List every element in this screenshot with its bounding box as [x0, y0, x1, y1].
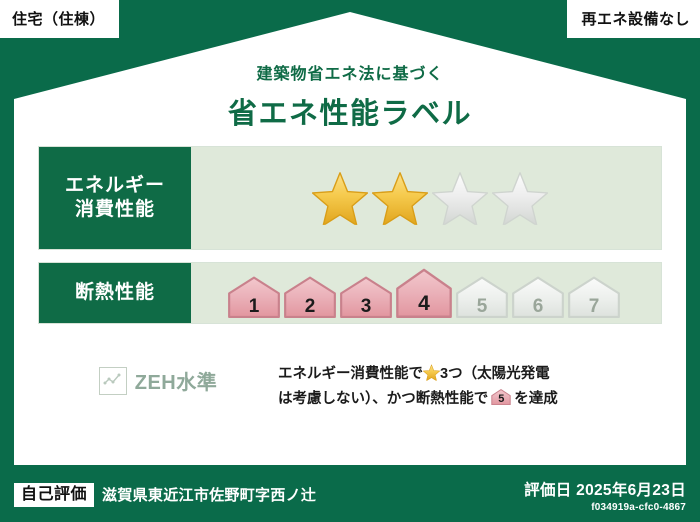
- row-insulation-performance: 断熱性能 1234567: [38, 262, 662, 324]
- description-line1-text-after: 3つ（太陽光発電: [440, 366, 550, 382]
- document-id: f034919a-cfc0-4867: [524, 502, 686, 513]
- page-title: 省エネ性能ラベル: [0, 90, 700, 132]
- star-filled-icon: [312, 170, 368, 226]
- zeh-checkbox-icon: [99, 367, 127, 395]
- achievement-description: エネルギー消費性能で3つ（太陽光発電 は考慮しない）、かつ断熱性能で5を達成: [278, 360, 662, 411]
- row-energy-label-line1: エネルギー: [65, 174, 165, 198]
- zeh-and-description: ZEH水準 エネルギー消費性能で3つ（太陽光発電 は考慮しない）、かつ断熱性能で…: [38, 360, 662, 411]
- insulation-level-number: 5: [455, 297, 509, 316]
- description-line2-text-after: を達成: [514, 391, 558, 407]
- insulation-level-1: 1: [227, 276, 281, 318]
- row-insulation-label: 断熱性能: [39, 263, 191, 323]
- badge-renewable-energy: 再エネ設備なし: [567, 0, 700, 38]
- star-rating: [312, 170, 548, 226]
- inline-star-icon: [423, 364, 440, 381]
- insulation-level-number: 6: [511, 297, 565, 316]
- energy-performance-label: 住宅（住棟） 再エネ設備なし 建築物省エネ法に基づく 省エネ性能ラベル エネルギ…: [0, 0, 700, 522]
- property-address: 滋賀県東近江市佐野町字西ノ辻: [102, 484, 316, 505]
- title-block: 建築物省エネ法に基づく 省エネ性能ラベル: [0, 60, 700, 132]
- footer-left: 自己評価 滋賀県東近江市佐野町字西ノ辻: [14, 483, 524, 507]
- insulation-level-number: 4: [395, 293, 453, 314]
- footer-bar: 自己評価 滋賀県東近江市佐野町字西ノ辻 評価日 2025年6月23日 f0349…: [0, 468, 700, 522]
- star-empty-icon: [492, 170, 548, 226]
- star-empty-icon: [432, 170, 488, 226]
- description-line1-text-before: エネルギー消費性能で: [278, 366, 423, 382]
- row-energy-label: エネルギー 消費性能: [39, 147, 191, 249]
- insulation-level-number: 2: [283, 297, 337, 316]
- footer-right: 評価日 2025年6月23日 f034919a-cfc0-4867: [524, 478, 686, 513]
- star-filled-icon: [372, 170, 428, 226]
- description-line-1: エネルギー消費性能で3つ（太陽光発電: [278, 362, 662, 387]
- evaluation-date-value: 2025年6月23日: [576, 482, 686, 499]
- insulation-level-number: 3: [339, 297, 393, 316]
- insulation-level-6: 6: [511, 276, 565, 318]
- evaluation-date-label: 評価日: [524, 482, 571, 499]
- inline-insulation-chip: 5: [490, 389, 512, 405]
- insulation-level-4: 4: [395, 268, 453, 318]
- insulation-level-scale: 1234567: [227, 268, 621, 318]
- inline-chip-value: 5: [490, 394, 512, 405]
- row-energy-label-line2: 消費性能: [75, 198, 155, 222]
- zeh-standard-block: ZEH水準: [38, 360, 278, 395]
- description-line2-text-before: は考慮しない）、かつ断熱性能で: [278, 391, 488, 407]
- description-line-2: は考慮しない）、かつ断熱性能で5を達成: [278, 387, 662, 412]
- zeh-standard-label: ZEH水準: [135, 366, 218, 395]
- row-insulation-label-line1: 断熱性能: [75, 281, 155, 305]
- insulation-level-3: 3: [339, 276, 393, 318]
- row-insulation-body: 1234567: [191, 263, 661, 323]
- title-subtitle: 建築物省エネ法に基づく: [0, 60, 700, 84]
- self-evaluation-badge: 自己評価: [14, 483, 94, 507]
- evaluation-date: 評価日 2025年6月23日: [524, 478, 686, 500]
- row-energy-performance: エネルギー 消費性能: [38, 146, 662, 250]
- insulation-level-5: 5: [455, 276, 509, 318]
- insulation-level-2: 2: [283, 276, 337, 318]
- insulation-level-number: 1: [227, 297, 281, 316]
- row-energy-body: [191, 147, 661, 249]
- badge-building-type: 住宅（住棟）: [0, 0, 119, 38]
- insulation-level-7: 7: [567, 276, 621, 318]
- insulation-level-number: 7: [567, 297, 621, 316]
